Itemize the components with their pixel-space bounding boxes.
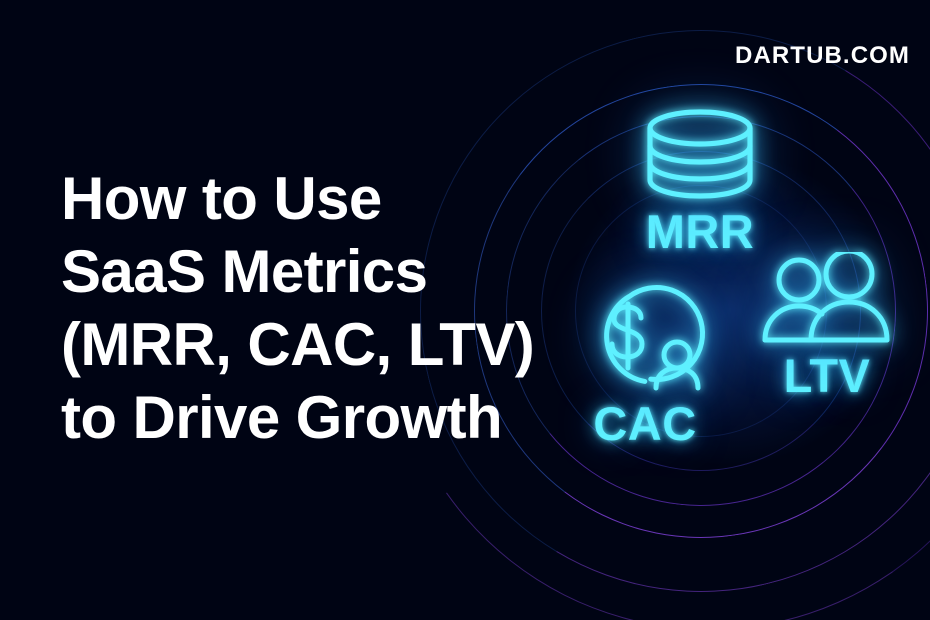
- metric-ltv-label: LTV: [757, 352, 897, 399]
- metric-ltv: LTV: [757, 252, 897, 399]
- brand-watermark: DARTUB.COM: [735, 42, 910, 70]
- headline-line-2: SaaS Metrics: [61, 235, 521, 308]
- dollar-circle-person-icon: [570, 282, 720, 394]
- database-stack-icon: [620, 108, 780, 200]
- page-title: How to Use SaaS Metrics (MRR, CAC, LTV) …: [61, 162, 521, 454]
- metric-cac: CAC: [570, 282, 720, 447]
- headline-line-4: to Drive Growth: [61, 381, 521, 454]
- metric-mrr: MRR: [620, 108, 780, 255]
- banner-canvas: DARTUB.COM How to Use SaaS Metrics (MRR,…: [0, 0, 930, 620]
- two-people-icon: [757, 252, 897, 348]
- headline-line-1: How to Use: [61, 162, 521, 235]
- metric-cac-label: CAC: [570, 400, 720, 447]
- headline-line-3: (MRR, CAC, LTV): [61, 308, 521, 381]
- metric-mrr-label: MRR: [620, 208, 780, 255]
